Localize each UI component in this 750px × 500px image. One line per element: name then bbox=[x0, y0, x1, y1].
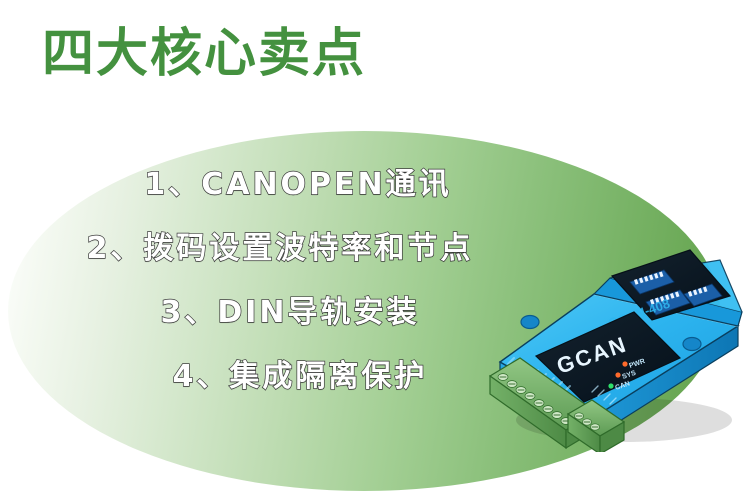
device-illustration: GCAN-408 GCAN PWR SYS CAN bbox=[484, 216, 750, 452]
led-sys bbox=[615, 372, 620, 377]
led-can bbox=[608, 383, 613, 388]
list-item: 4、集成隔离保护 bbox=[0, 362, 560, 392]
feature-list: 1、CANOPEN通讯 2、拨码设置波特率和节点 3、DIN导轨安装 4、集成隔… bbox=[0, 170, 560, 426]
screw-hole-right bbox=[683, 338, 701, 351]
list-item: 2、拨码设置波特率和节点 bbox=[0, 234, 560, 264]
poster-canvas: 四大核心卖点 1、CANOPEN通讯 2、拨码设置波特率和节点 3、DIN导轨安… bbox=[0, 0, 750, 500]
screw-hole-left bbox=[521, 316, 539, 329]
list-item: 3、DIN导轨安装 bbox=[0, 298, 560, 328]
list-item: 1、CANOPEN通讯 bbox=[0, 170, 560, 200]
led-pwr bbox=[622, 361, 627, 366]
page-title: 四大核心卖点 bbox=[42, 26, 366, 83]
